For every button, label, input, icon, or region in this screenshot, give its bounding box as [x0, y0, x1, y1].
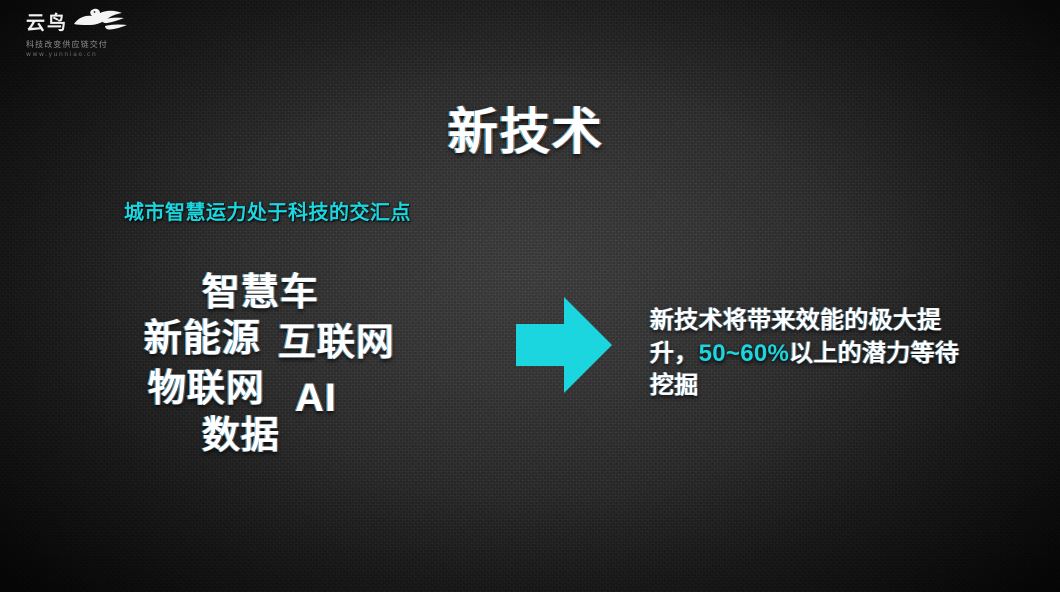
arrow-right-icon [516, 297, 612, 393]
logo-url: www.yunniao.cn [26, 52, 156, 58]
logo-wordmark-row: 云鸟 [26, 8, 156, 38]
conclusion-text: 新技术将带来效能的极大提升，50~60%以上的潜力等待挖掘 [650, 305, 960, 403]
logo-tagline: 科技改变供应链交付 [26, 41, 156, 49]
word-cloud-item-data: 数据 [202, 417, 280, 455]
page-title: 新技术 [448, 103, 604, 161]
word-cloud-item-iot: 物联网 [148, 370, 265, 408]
brand-logo: 云鸟 科技改变供应链交付 www.yunniao.cn [26, 8, 156, 64]
page-subtitle: 城市智慧运力处于科技的交汇点 [124, 201, 411, 225]
technology-word-cloud: 智慧车 新能源 互联网 物联网 AI 数据 [130, 262, 430, 467]
word-cloud-item-internet: 互联网 [278, 324, 395, 362]
word-cloud-item-new-energy: 新能源 [144, 320, 261, 358]
conclusion-highlight-percentage: 50~60% [699, 340, 790, 367]
word-cloud-item-ai: AI [295, 378, 337, 418]
word-cloud-item-smart-vehicle: 智慧车 [202, 274, 319, 312]
logo-brand-text: 云鸟 [26, 14, 68, 33]
bird-swoosh-icon [72, 7, 130, 38]
slide-canvas: 云鸟 科技改变供应链交付 www.yunniao.cn 新技术 城市智慧运力处于… [0, 0, 1060, 592]
